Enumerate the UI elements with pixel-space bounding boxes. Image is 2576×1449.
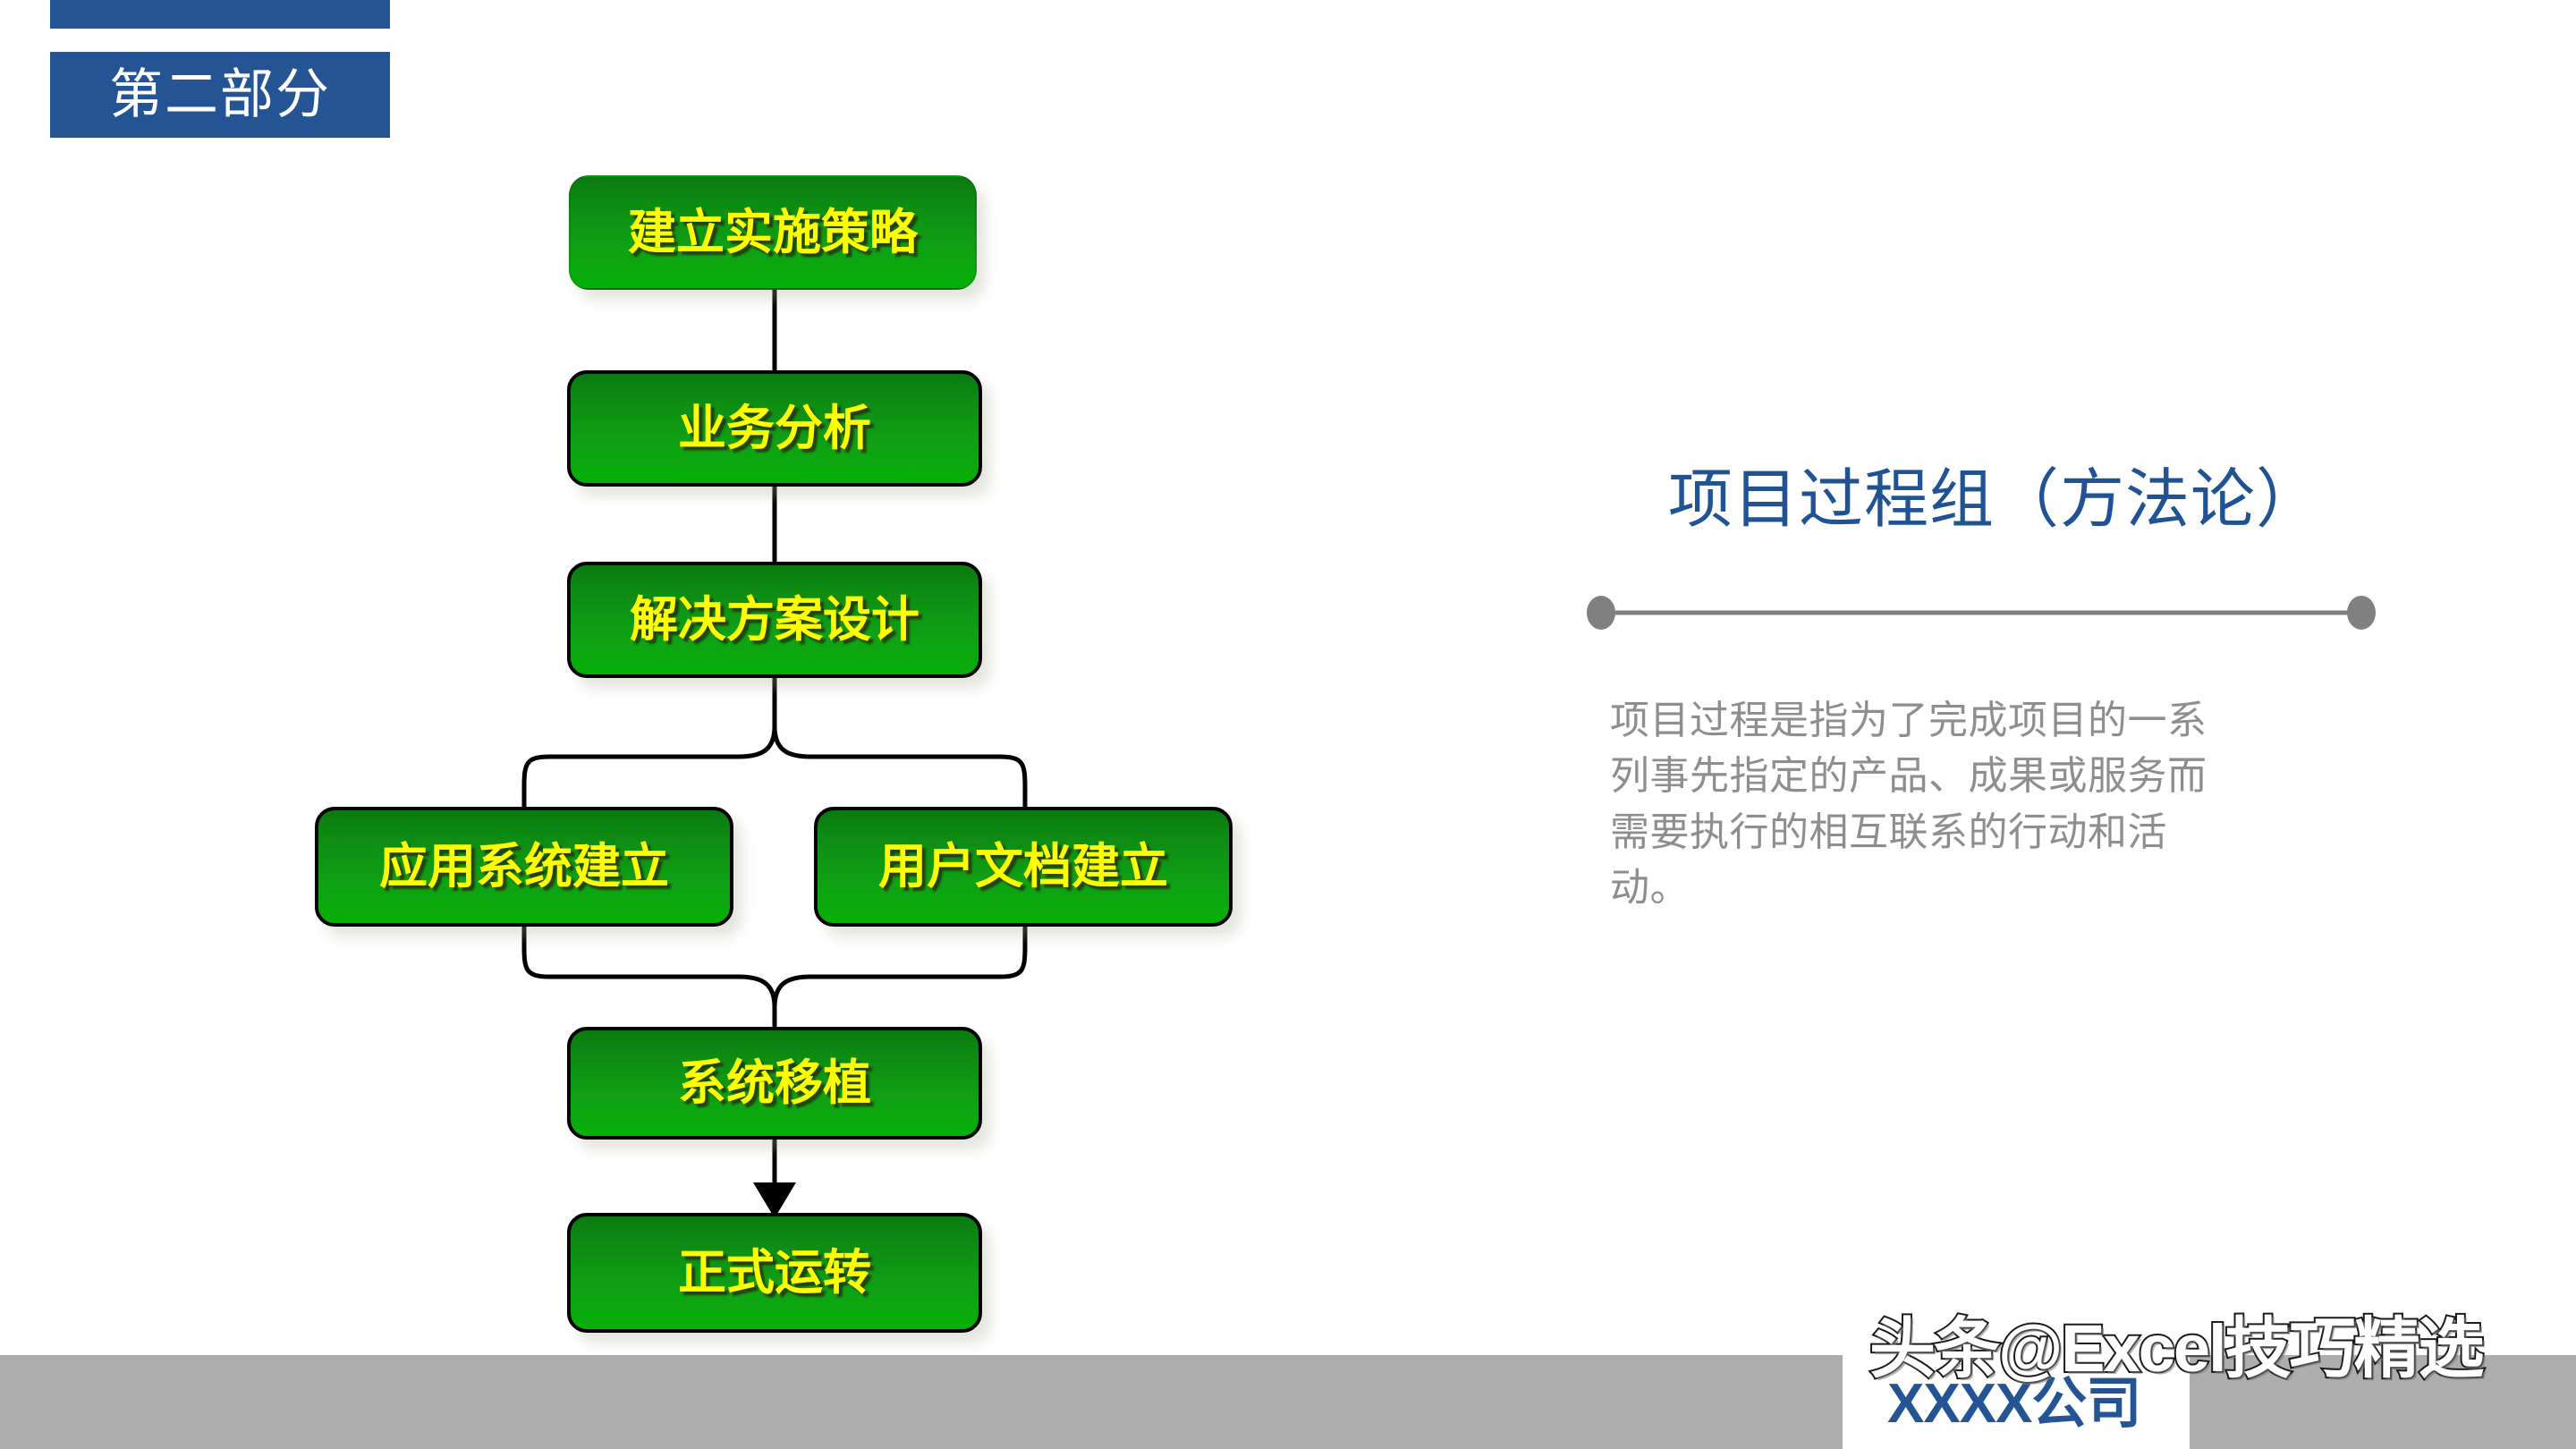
right-panel: 项目过程组（方法论） bbox=[1583, 465, 2406, 536]
page-title: 项目过程组（方法论） bbox=[1583, 465, 2406, 536]
flow-node-establish-strategy[interactable]: 建立实施策略 bbox=[569, 175, 977, 290]
watermark-text: 头条@Excel技巧精选 bbox=[1869, 1295, 2483, 1391]
flow-node-label: 业务分析 bbox=[678, 404, 871, 453]
flowchart: 建立实施策略 业务分析 解决方案设计 应用系统建立 用户文档建立 系统移植 正式… bbox=[0, 0, 1431, 1449]
footer-bar-left bbox=[0, 1355, 1843, 1449]
flow-node-label: 用户文档建立 bbox=[878, 843, 1168, 891]
flow-node-label: 建立实施策略 bbox=[628, 208, 918, 257]
flow-node-solution-design[interactable]: 解决方案设计 bbox=[567, 562, 982, 678]
description-text: 项目过程是指为了完成项目的一系列事先指定的产品、成果或服务而需要执行的相互联系的… bbox=[1610, 693, 2236, 917]
flow-node-system-migration[interactable]: 系统移植 bbox=[567, 1027, 982, 1140]
flow-node-user-documentation[interactable]: 用户文档建立 bbox=[814, 807, 1233, 927]
flow-node-label: 应用系统建立 bbox=[379, 843, 669, 891]
flow-node-application-system-build[interactable]: 应用系统建立 bbox=[315, 807, 733, 927]
title-divider bbox=[1583, 595, 2379, 631]
flow-node-label: 正式运转 bbox=[678, 1249, 871, 1297]
flow-node-label: 系统移植 bbox=[678, 1059, 871, 1107]
flow-node-label: 解决方案设计 bbox=[630, 596, 919, 644]
flow-node-business-analysis[interactable]: 业务分析 bbox=[567, 370, 982, 487]
flow-node-go-live[interactable]: 正式运转 bbox=[567, 1213, 982, 1333]
